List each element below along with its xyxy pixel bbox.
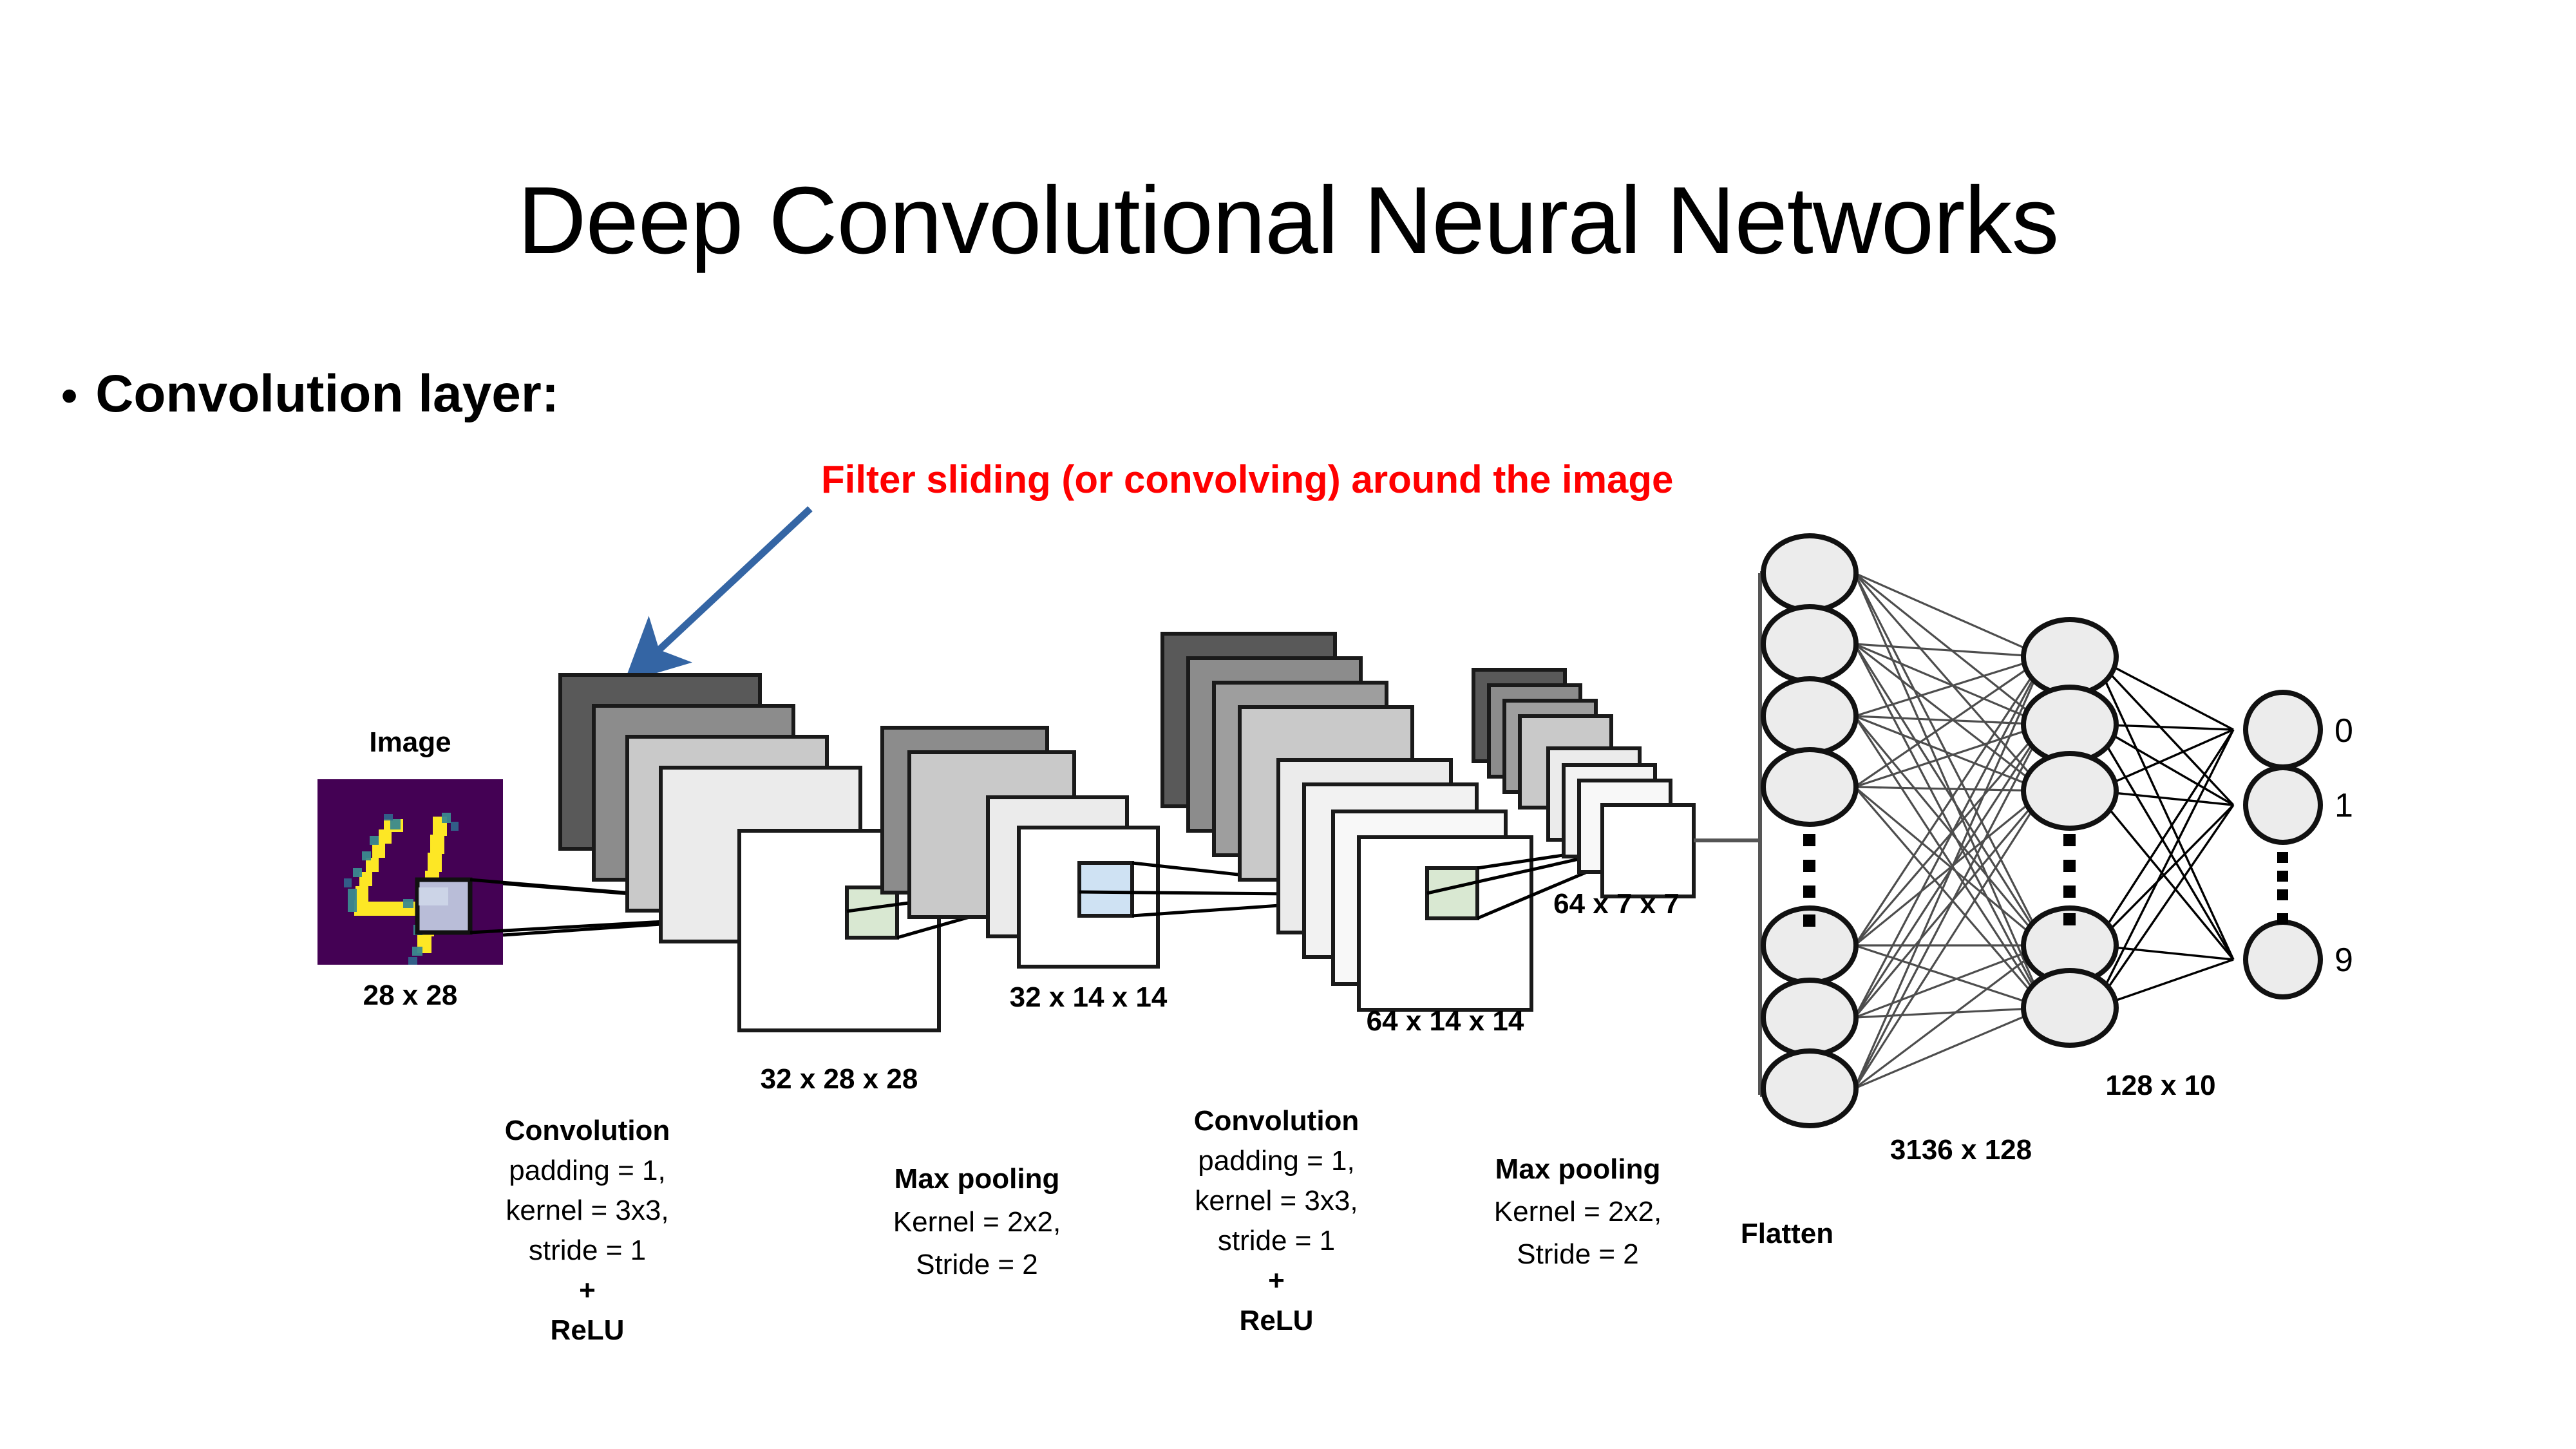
conv2-operation-caption: Convolution padding = 1, kernel = 3x3, s… [1194, 1105, 1359, 1336]
pool1-operation-caption: Max pooling Kernel = 2x2, Stride = 2 [893, 1163, 1061, 1280]
svg-text:padding = 1,: padding = 1, [509, 1155, 665, 1186]
svg-text:Kernel = 2x2,: Kernel = 2x2, [893, 1206, 1061, 1238]
svg-text:ReLU: ReLU [1240, 1305, 1314, 1336]
fc-output-layer: 0 1 9 [2246, 692, 2353, 997]
fc-input-layer [1763, 536, 1856, 1126]
svg-text:+: + [1268, 1265, 1285, 1296]
image-size-label: 28 x 28 [363, 980, 458, 1011]
svg-text:Convolution: Convolution [505, 1115, 670, 1146]
fc-node [2023, 620, 2116, 694]
mnist-input-image: Image 28 x 28 [317, 726, 503, 1011]
fc-node [1763, 980, 1856, 1055]
fc-node [1763, 607, 1856, 681]
vertical-ellipsis-icon [2277, 852, 2288, 924]
svg-text:Max pooling: Max pooling [1495, 1153, 1661, 1185]
conv1-filter-window-icon [847, 887, 897, 938]
conv1-operation-caption: Convolution padding = 1, kernel = 3x3, s… [505, 1115, 670, 1346]
fc-node [2023, 687, 2116, 762]
image-title: Image [369, 726, 451, 758]
svg-text:Stride = 2: Stride = 2 [1517, 1238, 1639, 1270]
fc-node [1763, 536, 1856, 611]
fc-node [2023, 971, 2116, 1045]
fc-output-node [2246, 922, 2320, 997]
svg-text:kernel = 3x3,: kernel = 3x3, [506, 1195, 668, 1226]
svg-text:ReLU: ReLU [551, 1314, 625, 1346]
output-class-label-9: 9 [2334, 942, 2353, 979]
svg-text:stride = 1: stride = 1 [1218, 1225, 1335, 1256]
output-class-label-1: 1 [2334, 787, 2353, 824]
fc1-size-label: 3136 x 128 [1890, 1134, 2032, 1166]
fc-edges-input-hidden [1855, 573, 2045, 1088]
cnn-architecture-diagram: Image 28 x 28 32 x 28 x 28 [0, 0, 2576, 1449]
svg-text:padding = 1,: padding = 1, [1198, 1145, 1354, 1177]
fc-output-node [2246, 768, 2320, 842]
conv2-filter-window-icon [1427, 868, 1477, 918]
pool1-size-label: 32 x 14 x 14 [1010, 981, 1168, 1013]
blue-pointer-arrow [634, 509, 810, 673]
svg-text:Kernel = 2x2,: Kernel = 2x2, [1494, 1196, 1662, 1227]
fc2-size-label: 128 x 10 [2105, 1070, 2215, 1101]
pool1-filter-window-icon [1079, 863, 1132, 916]
svg-text:kernel = 3x3,: kernel = 3x3, [1195, 1185, 1358, 1217]
fc-node [1763, 1051, 1856, 1126]
svg-text:Max pooling: Max pooling [895, 1163, 1060, 1195]
conv2-size-label: 64 x 14 x 14 [1367, 1005, 1524, 1037]
fc-hidden-layer [2023, 620, 2116, 1045]
svg-text:Stride = 2: Stride = 2 [916, 1249, 1038, 1280]
pool2-operation-caption: Max pooling Kernel = 2x2, Stride = 2 [1494, 1153, 1662, 1270]
fc-output-node [2246, 692, 2320, 767]
slide-canvas: Deep Convolutional Neural Networks • Con… [0, 0, 2576, 1449]
fc-node [1763, 679, 1856, 753]
fc-node [2023, 753, 2116, 828]
output-class-label-0: 0 [2334, 712, 2353, 750]
svg-text:stride = 1: stride = 1 [529, 1235, 646, 1266]
fc-node [1763, 750, 1856, 824]
svg-text:+: + [579, 1274, 596, 1306]
conv1-size-label: 32 x 28 x 28 [761, 1063, 918, 1095]
svg-text:Convolution: Convolution [1194, 1105, 1359, 1137]
pool2-size-label: 64 x 7 x 7 [1553, 888, 1680, 920]
flatten-label: Flatten [1741, 1218, 1833, 1249]
